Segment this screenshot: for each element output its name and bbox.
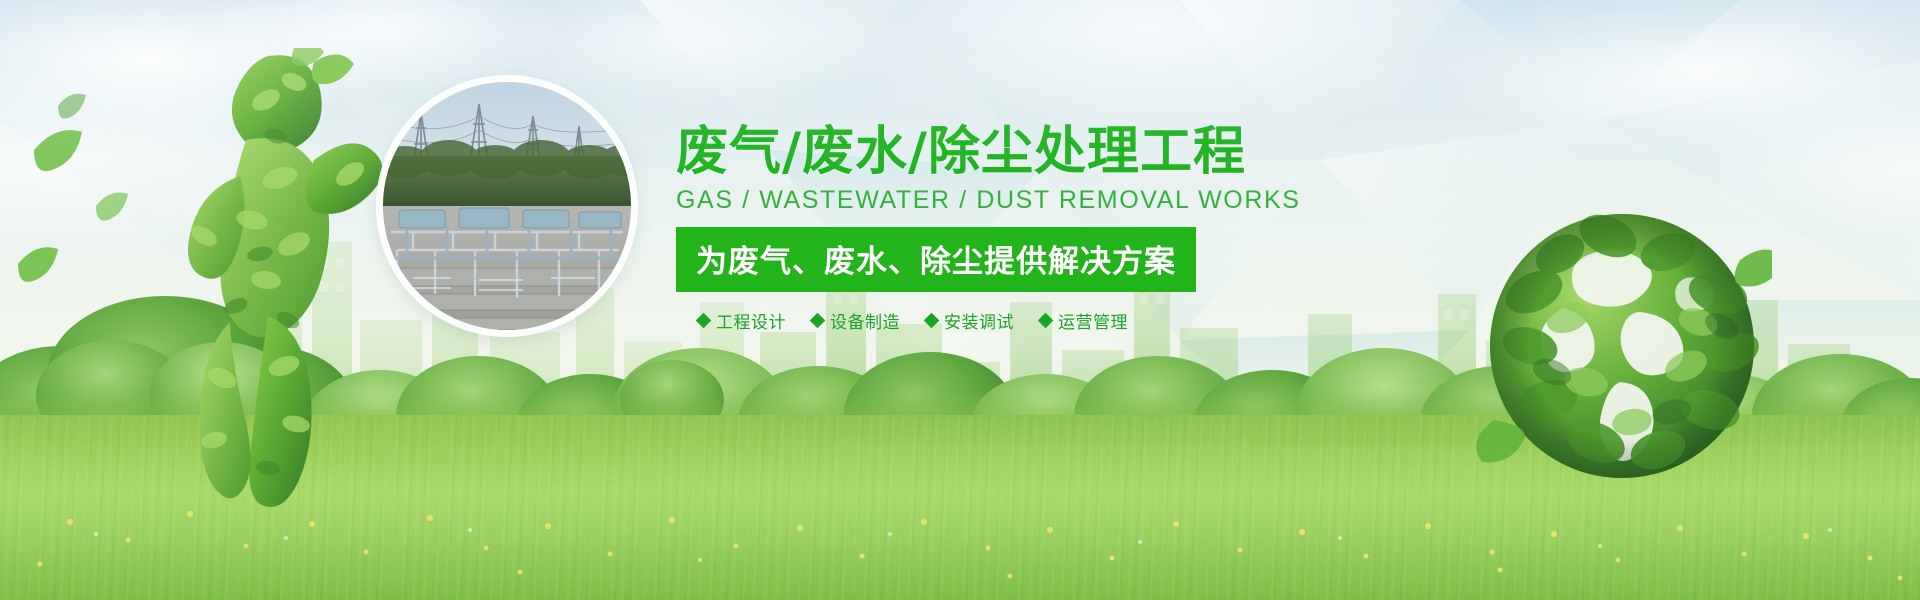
bullet-label: 工程设计 [716, 308, 786, 333]
list-item: 运营管理 [1040, 308, 1128, 333]
list-item: 工程设计 [698, 308, 786, 333]
page-title: 废气/废水/除尘处理工程 [676, 124, 1196, 180]
list-item: 设备制造 [812, 308, 900, 333]
leaf-man-figure [118, 48, 448, 518]
service-bullet-list: 工程设计 设备制造 安装调试 运营管理 [676, 308, 1196, 333]
bullet-label: 运营管理 [1058, 308, 1128, 333]
eco-engineering-banner: 废气/废水/除尘处理工程 GAS / WASTEWATER / DUST REM… [0, 0, 1920, 600]
diamond-icon [696, 313, 712, 329]
bullet-label: 设备制造 [830, 308, 900, 333]
headline-text-block: 废气/废水/除尘处理工程 GAS / WASTEWATER / DUST REM… [676, 124, 1196, 333]
subtitle-english: GAS / WASTEWATER / DUST REMOVAL WORKS [676, 186, 1196, 215]
diamond-icon [1038, 313, 1054, 329]
diamond-icon [810, 313, 826, 329]
diamond-icon [924, 313, 940, 329]
slogan-bar: 为废气、废水、除尘提供解决方案 [676, 227, 1196, 292]
bullet-label: 安装调试 [944, 308, 1014, 333]
leafy-globe-icon [1472, 196, 1772, 496]
list-item: 安装调试 [926, 308, 1014, 333]
wastewater-plant-photo [383, 82, 631, 330]
